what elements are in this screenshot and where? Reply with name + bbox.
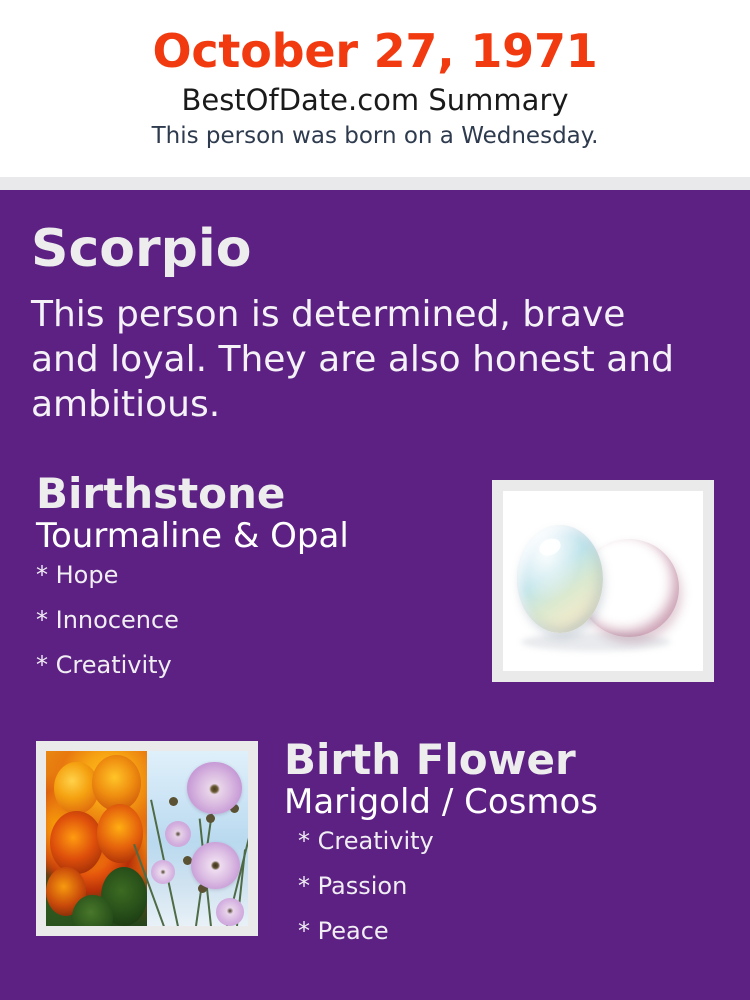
birthstone-trait-list: * Hope * Innocence * Creativity — [36, 555, 476, 698]
cosmos-bloom — [187, 762, 242, 815]
gem-shadow — [521, 633, 671, 651]
marigold-photo-half — [46, 751, 147, 926]
birthstone-image — [503, 491, 703, 671]
list-item: * Creativity — [36, 653, 476, 698]
cosmos-bloom — [191, 842, 239, 889]
birthstone-title: Birthstone — [36, 472, 476, 516]
birth-flower-section: Birth Flower Marigold / Cosmos * Creativ… — [284, 738, 724, 964]
cosmos-bud — [169, 797, 178, 806]
marigold-bloom — [50, 811, 103, 874]
birth-flower-image-frame — [36, 741, 258, 936]
cosmos-bud — [206, 814, 215, 823]
list-item: * Creativity — [298, 829, 724, 874]
list-item: * Peace — [298, 919, 724, 964]
page-title-date: October 27, 1971 — [0, 0, 750, 78]
site-name: BestOfDate.com Summary — [0, 78, 750, 117]
summary-panel: Scorpio This person is determined, brave… — [0, 190, 750, 1000]
birth-flower-image — [46, 751, 248, 926]
birth-flower-names: Marigold / Cosmos — [284, 782, 724, 821]
birthstone-section: Birthstone Tourmaline & Opal * Hope * In… — [36, 472, 476, 698]
page-header: October 27, 1971 BestOfDate.com Summary … — [0, 0, 750, 177]
opal-highlight — [537, 535, 564, 558]
cosmos-bloom — [216, 898, 244, 926]
cosmos-bloom — [165, 821, 191, 847]
zodiac-sign-title: Scorpio — [31, 223, 251, 275]
zodiac-description: This person is determined, brave and loy… — [31, 292, 701, 427]
header-divider — [0, 177, 750, 190]
list-item: * Innocence — [36, 608, 476, 653]
list-item: * Passion — [298, 874, 724, 919]
opal-gem-icon — [517, 525, 603, 633]
birth-flower-title: Birth Flower — [284, 738, 724, 782]
cosmos-bloom — [151, 860, 175, 885]
birthstone-names: Tourmaline & Opal — [36, 516, 476, 555]
list-item: * Hope — [36, 563, 476, 608]
marigold-bloom — [92, 755, 140, 811]
cosmos-photo-half — [147, 751, 248, 926]
summary-page: October 27, 1971 BestOfDate.com Summary … — [0, 0, 750, 1000]
birthstone-image-frame — [492, 480, 714, 682]
birth-flower-trait-list: * Creativity * Passion * Peace — [284, 821, 724, 964]
born-day-text: This person was born on a Wednesday. — [0, 117, 750, 149]
